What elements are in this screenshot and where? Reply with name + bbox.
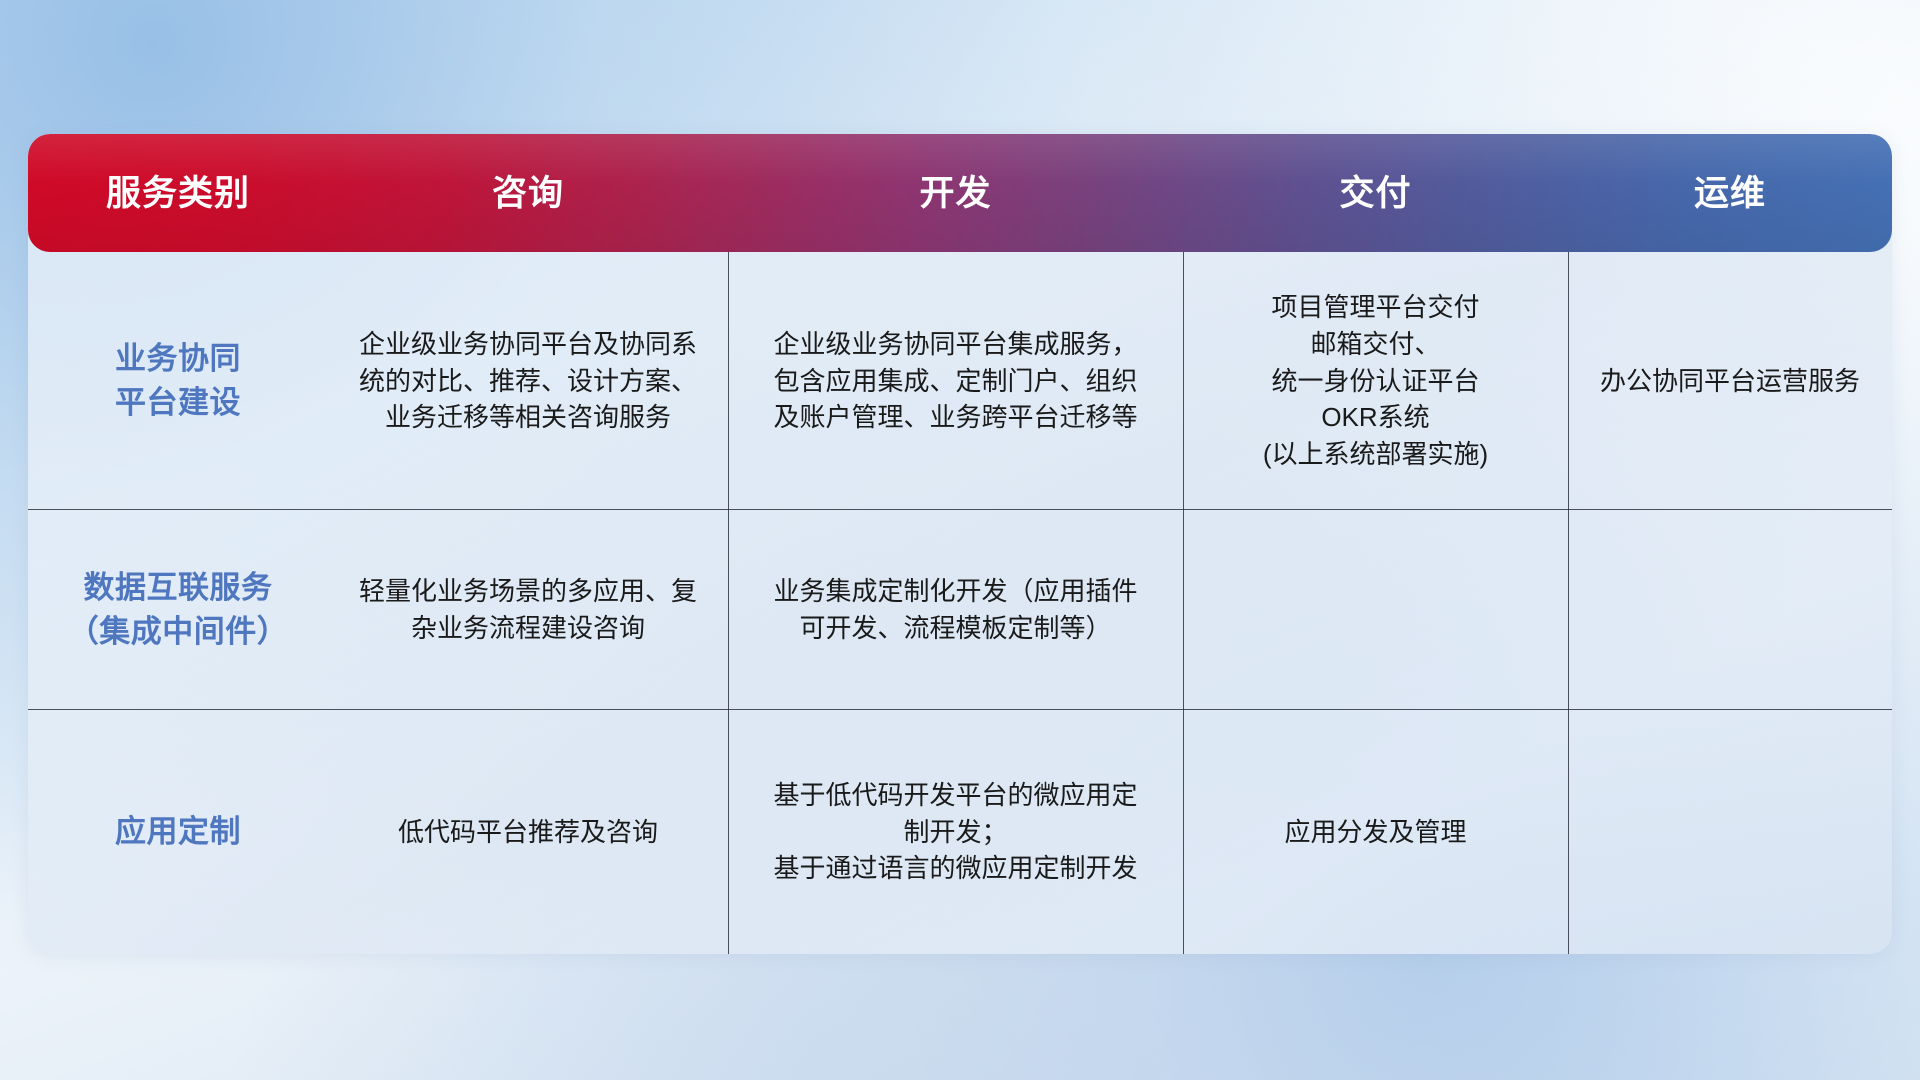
table-row: 应用定制 低代码平台推荐及咨询 基于低代码开发平台的微应用定 制开发； 基于通过… <box>28 710 1892 954</box>
row-category-label: 数据互联服务 （集成中间件） <box>28 510 328 710</box>
cell-operations <box>1568 710 1892 954</box>
cell-consulting: 低代码平台推荐及咨询 <box>328 710 728 954</box>
table-header-development: 开发 <box>728 176 1183 211</box>
cell-development: 业务集成定制化开发（应用插件 可开发、流程模板定制等） <box>728 510 1183 710</box>
cell-delivery: 应用分发及管理 <box>1183 710 1568 954</box>
cell-operations <box>1568 510 1892 710</box>
row-category-label: 业务协同 平台建设 <box>28 252 328 510</box>
table-body: 业务协同 平台建设 企业级业务协同平台及协同系 统的对比、推荐、设计方案、 业务… <box>28 252 1892 954</box>
table-header-row: 服务类别 咨询 开发 交付 运维 <box>28 134 1892 252</box>
row-category-label: 应用定制 <box>28 710 328 954</box>
cell-delivery <box>1183 510 1568 710</box>
table-header-service-category: 服务类别 <box>28 176 328 211</box>
table-row: 业务协同 平台建设 企业级业务协同平台及协同系 统的对比、推荐、设计方案、 业务… <box>28 252 1892 510</box>
cell-operations: 办公协同平台运营服务 <box>1568 252 1892 510</box>
cell-consulting: 轻量化业务场景的多应用、复 杂业务流程建设咨询 <box>328 510 728 710</box>
table-header-delivery: 交付 <box>1183 176 1568 211</box>
cell-development: 基于低代码开发平台的微应用定 制开发； 基于通过语言的微应用定制开发 <box>728 710 1183 954</box>
table-row: 数据互联服务 （集成中间件） 轻量化业务场景的多应用、复 杂业务流程建设咨询 业… <box>28 510 1892 710</box>
cell-delivery: 项目管理平台交付 邮箱交付、 统一身份认证平台 OKR系统 (以上系统部署实施) <box>1183 252 1568 510</box>
cell-development: 企业级业务协同平台集成服务， 包含应用集成、定制门户、组织 及账户管理、业务跨平… <box>728 252 1183 510</box>
cell-consulting: 企业级业务协同平台及协同系 统的对比、推荐、设计方案、 业务迁移等相关咨询服务 <box>328 252 728 510</box>
service-matrix-table: 服务类别 咨询 开发 交付 运维 业务协同 平台建设 企业级业务协同平台及协同系… <box>28 134 1892 954</box>
table-header-consulting: 咨询 <box>328 176 728 211</box>
table-header-operations: 运维 <box>1568 176 1892 211</box>
